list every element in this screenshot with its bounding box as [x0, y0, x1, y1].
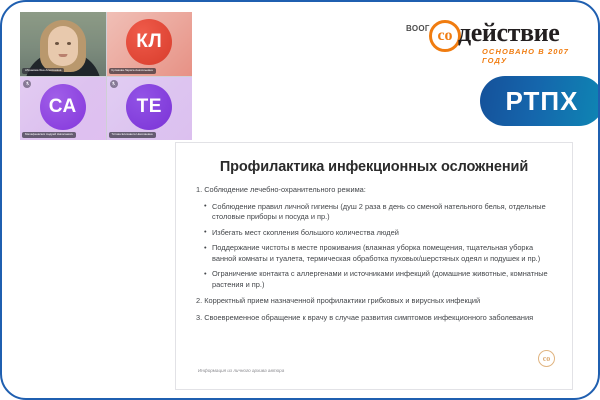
shared-presentation-slide[interactable]: Профилактика инфекционных осложнений 1. …	[175, 142, 573, 390]
slide-body: 1. Соблюдение лечебно-охранительного реж…	[192, 185, 556, 323]
brand-prefix: ВООГ	[406, 24, 430, 33]
participant-tile-sa[interactable]: СА Малафеевских Андрей Николаевич	[20, 77, 106, 141]
slide-bullet-list: Соблюдение правил личной гигиены (душ 2 …	[192, 202, 556, 291]
avatar: СА	[40, 84, 86, 130]
microphone-off-icon	[23, 80, 31, 88]
list-item: Соблюдение правил личной гигиены (душ 2 …	[204, 202, 556, 223]
participant-grid: Абрамова Яна Алексеевна КЛ Кулакова Лари…	[20, 12, 192, 140]
screenshot-root: Абрамова Яна Алексеевна КЛ Кулакова Лари…	[0, 0, 600, 400]
webcam-mouth	[58, 54, 67, 57]
brand-circle-mark: со	[429, 20, 461, 52]
participant-name-label: Абрамова Яна Алексеевна	[22, 68, 64, 74]
slide-title: Профилактика инфекционных осложнений	[192, 159, 556, 175]
microphone-off-icon	[110, 80, 118, 88]
participant-tile-webcam[interactable]: Абрамова Яна Алексеевна	[20, 12, 106, 76]
slide-item-3: 3. Своевременное обращение к врачу в слу…	[196, 313, 556, 324]
list-item: Поддержание чистоты в месте проживания (…	[204, 243, 556, 264]
brand-wordmark: действие	[458, 18, 559, 48]
rtph-badge-label: РТПХ	[506, 86, 579, 117]
webcam-eye-right	[67, 42, 71, 45]
brand-tagline: ОСНОВАНО В 2007 ГОДУ	[482, 47, 592, 65]
list-item: Избегать мест скопления большого количес…	[204, 228, 556, 239]
participant-tile-te[interactable]: ТЕ Титова Елизавета Николаевна	[107, 77, 193, 141]
webcam-person-face	[48, 26, 78, 66]
webcam-eye-left	[55, 42, 59, 45]
participant-name-label: Кулакова Лариса Анатольевна	[109, 68, 156, 74]
participant-tile-kl[interactable]: КЛ Кулакова Лариса Анатольевна	[107, 12, 193, 76]
avatar: ТЕ	[126, 84, 172, 130]
brand-logo: ВООГ со действие ОСНОВАНО В 2007 ГОДУ	[406, 16, 592, 62]
slide-item-1: 1. Соблюдение лечебно-охранительного реж…	[196, 185, 556, 196]
avatar: КЛ	[126, 19, 172, 65]
participant-name-label: Титова Елизавета Николаевна	[109, 132, 156, 138]
rtph-badge: РТПХ	[480, 76, 600, 126]
slide-watermark-logo: со	[538, 350, 555, 367]
list-item: Ограничение контакта с аллергенами и ист…	[204, 269, 556, 290]
slide-item-2: 2. Корректный прием назначенной профилак…	[196, 296, 556, 307]
participant-name-label: Малафеевских Андрей Николаевич	[22, 132, 76, 138]
slide-source-note: Информация из личного архива автора	[198, 368, 284, 373]
